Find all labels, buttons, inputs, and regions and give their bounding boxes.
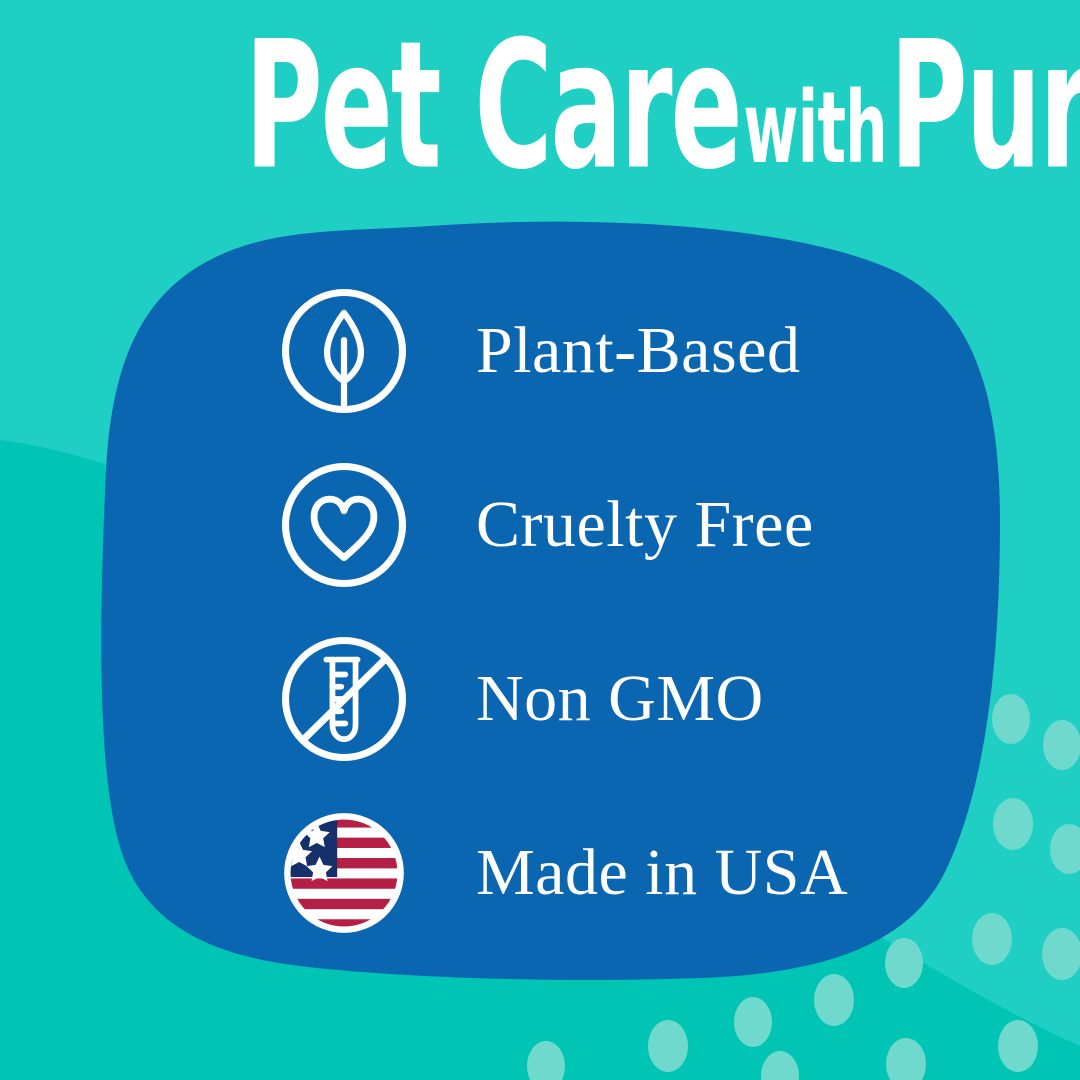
claim-row-non-gmo: Non GMO: [0, 612, 1080, 786]
usa-flag-icon: [276, 805, 412, 941]
headline-part-one: Pet Care: [245, 3, 741, 208]
dot: [648, 1020, 688, 1072]
dot: [814, 974, 854, 1026]
poster-canvas: Pet CarewithPurpose® Plant-Based Cruelty…: [0, 0, 1080, 1080]
headline: Pet CarewithPurpose®: [0, 18, 1080, 170]
headline-part-two: Purpose: [890, 3, 1080, 208]
claim-row-made-in-usa: Made in USA: [0, 786, 1080, 960]
dot: [527, 1041, 565, 1080]
claim-row-plant-based: Plant-Based: [0, 264, 1080, 438]
claim-label-plant-based: Plant-Based: [476, 313, 800, 389]
heart-icon: [276, 457, 412, 593]
headline-text-group: Pet CarewithPurpose®: [245, 18, 1080, 194]
dot: [886, 1038, 926, 1080]
claims-list: Plant-Based Cruelty Free: [0, 264, 1080, 960]
dot: [734, 997, 772, 1047]
headline-part-with: with: [741, 71, 890, 186]
claim-label-non-gmo: Non GMO: [476, 661, 764, 737]
prohibition-slash-icon: [303, 660, 385, 740]
no-test-tube-icon: [276, 631, 412, 767]
dot: [998, 1020, 1038, 1072]
claim-label-made-in-usa: Made in USA: [476, 835, 848, 911]
dot: [761, 1051, 799, 1080]
claim-row-cruelty-free: Cruelty Free: [0, 438, 1080, 612]
leaf-icon: [276, 283, 412, 419]
claim-label-cruelty-free: Cruelty Free: [476, 487, 814, 563]
